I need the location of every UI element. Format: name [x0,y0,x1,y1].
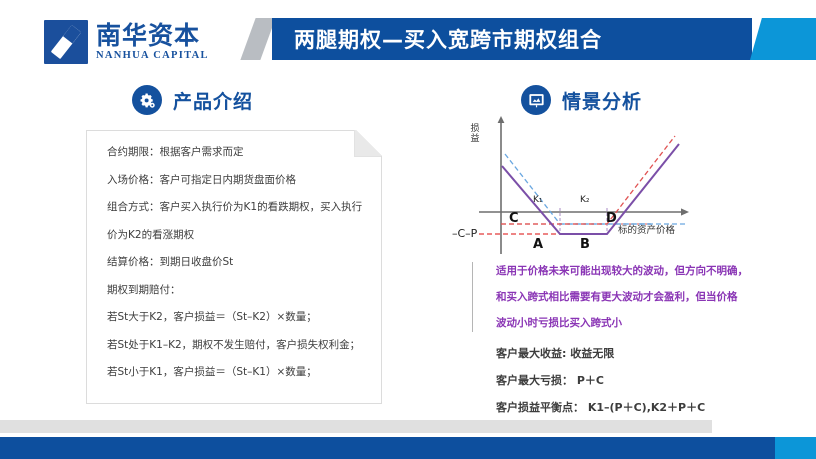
presentation-board-icon [521,85,551,115]
scenario-note-purple: 适用于价格未来可能出现较大的波动，但方向不明确， [496,266,748,277]
product-line: 若St处于K1–K2，期权不发生赔付，客户损失权利金； [107,340,369,351]
chart-series-call-leg [501,136,675,224]
product-line: 期权到期赔付： [107,285,369,296]
scenario-note-max-loss: 客户最大亏损： P＋C [496,375,604,386]
section-title-scenario: 情景分析 [562,87,642,114]
product-line: 若St大于K2，客户损益＝（St–K2）×数量； [107,312,369,323]
footer-blue-bar [0,437,775,459]
chart-label-k1: K₁ [533,195,543,205]
product-line: 结算价格：到期日收盘价St [107,257,369,268]
logo-chinese-name: 南华资本 [96,23,209,48]
logo-english-name: NANHUA CAPITAL [96,51,209,62]
chart-series-put-leg [505,154,651,224]
scenario-note-breakeven: 客户损益平衡点： K1–(P＋C),K2＋P＋C [496,402,705,413]
footer-accent-shape [775,437,816,459]
right-column-divider [472,262,473,332]
page-title: 两腿期权—买入宽跨市期权组合 [294,24,602,54]
panel-fold-corner [354,130,381,157]
nanhua-diagonal-mark-icon [44,20,88,64]
scenario-note-purple: 波动小时亏损比买入跨式小 [496,318,622,329]
chart-label-d: D [606,211,617,226]
product-line: 若St小于K1，客户损益＝（St–K1）×数量； [107,367,369,378]
product-line: 组合方式：客户买入执行价为K1的看跌期权，买入执行 [107,202,369,213]
section-title-product: 产品介绍 [173,87,253,114]
chart-label-b: B [580,237,590,252]
company-logo: 南华资本 NANHUA CAPITAL [44,20,209,64]
chart-label-k2: K₂ [580,195,590,205]
chart-series-strangle-payoff [502,144,679,234]
product-line: 合约期限：根据客户需求而定 [107,147,369,158]
scenario-note-max-profit: 客户最大收益: 收益无限 [496,348,614,359]
chart-x-axis-arrow [681,208,689,215]
gear-icon [132,85,162,115]
section-heading-scenario: 情景分析 [521,85,642,115]
chart-label-c: C [509,211,519,226]
title-accent-shape [750,18,816,60]
product-info-panel: 合约期限：根据客户需求而定 入场价格：客户可指定日内期货盘面价格 组合方式：客户… [86,130,382,404]
product-line: 价为K2的看涨期权 [107,230,369,241]
chart-label-max-loss: –C–P [452,227,477,240]
slide-title-bar: 两腿期权—买入宽跨市期权组合 [272,18,752,60]
scenario-note-purple: 和买入跨式相比需要有更大波动才会盈利，但当价格 [496,292,738,303]
section-heading-product: 产品介绍 [132,85,253,115]
footer-gray-band [0,420,712,433]
chart-y-axis-arrow [498,116,505,123]
title-slash-decoration [240,18,275,60]
product-line: 入场价格：客户可指定日内期货盘面价格 [107,175,369,186]
slide-canvas: 南华资本 NANHUA CAPITAL 两腿期权—买入宽跨市期权组合 产品介绍 [0,0,816,459]
chart-label-a: A [533,237,543,252]
payoff-chart [455,112,720,257]
